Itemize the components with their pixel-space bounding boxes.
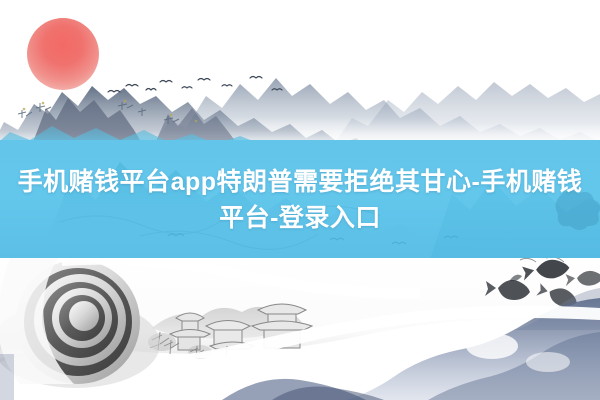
page-title: 手机赌钱平台app特朗普需要拒绝其甘心-手机赌钱平台-登录入口 [10, 164, 590, 236]
lower-scene [0, 258, 600, 400]
upper-scene [0, 0, 600, 142]
flying-birds-flock [108, 77, 282, 93]
ink-wash-mountain-range [0, 0, 600, 142]
rolled-paper-scroll-with-pavilions [0, 258, 600, 400]
banner-image: 手机赌钱平台app特朗普需要拒绝其甘心-手机赌钱平台-登录入口 [0, 0, 600, 400]
banner-title-container: 手机赌钱平台app特朗普需要拒绝其甘心-手机赌钱平台-登录入口 [0, 140, 600, 259]
